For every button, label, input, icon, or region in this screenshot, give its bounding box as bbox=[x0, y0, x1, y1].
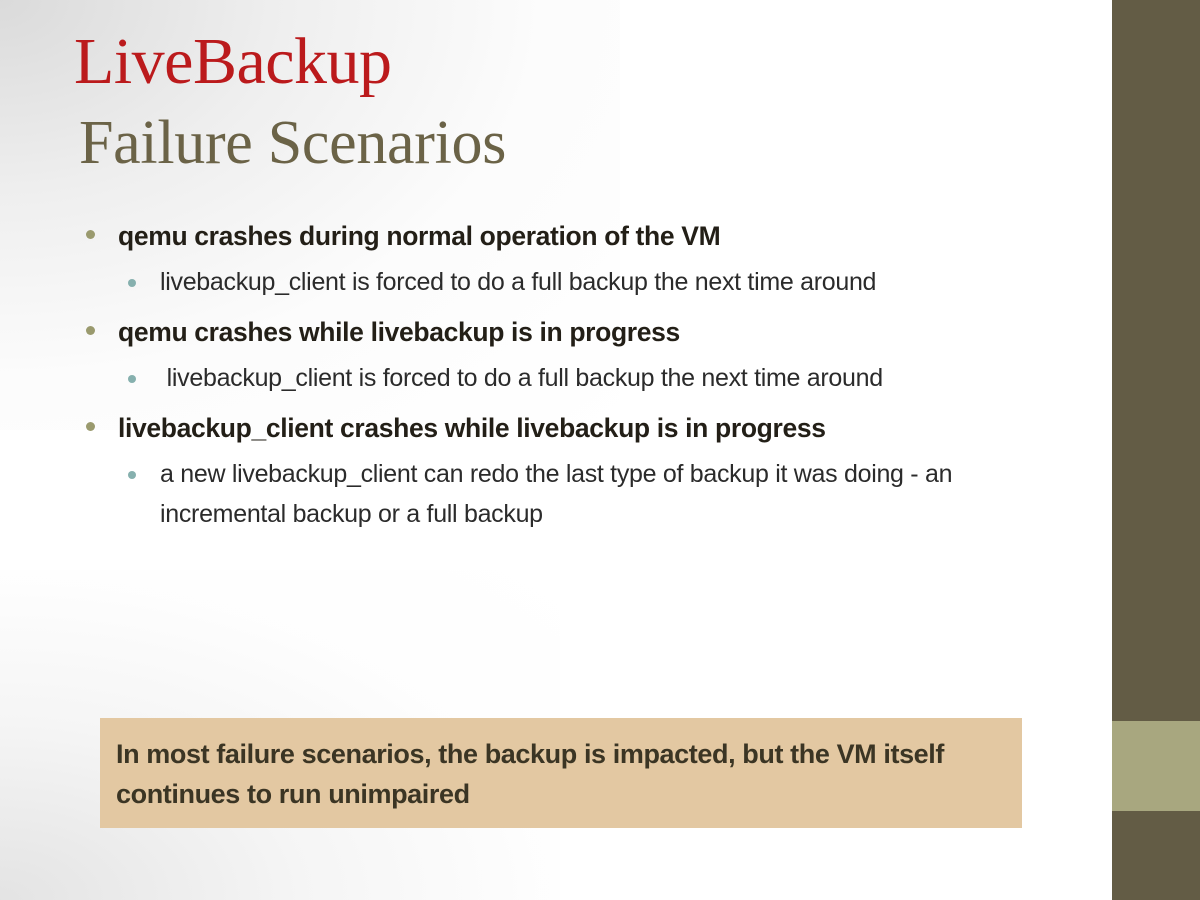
slide-body-content: qemu crashes during normal operation of … bbox=[78, 216, 1038, 544]
slide-title-primary: LiveBackup bbox=[74, 24, 1054, 100]
bullet-level2-label: a new livebackup_client can redo the las… bbox=[160, 460, 959, 528]
bullet-dot-icon bbox=[128, 279, 136, 287]
bullet-level1: livebackup_client crashes while liveback… bbox=[78, 408, 1038, 448]
bullet-level1-label: qemu crashes during normal operation of … bbox=[118, 221, 720, 251]
slide-title-secondary: Failure Scenarios bbox=[79, 106, 1054, 180]
bullet-group: qemu crashes during normal operation of … bbox=[78, 216, 1038, 302]
bullet-level1: qemu crashes while livebackup is in prog… bbox=[78, 312, 1038, 352]
bullet-dot-icon bbox=[86, 230, 95, 239]
sidebar-band-dark-bottom bbox=[1112, 811, 1200, 900]
bullet-level2: livebackup_client is forced to do a full… bbox=[78, 358, 1038, 398]
bullet-level2-label: livebackup_client is forced to do a full… bbox=[160, 364, 883, 392]
sidebar-band-dark-top bbox=[1112, 0, 1200, 721]
bullet-group: qemu crashes while livebackup is in prog… bbox=[78, 312, 1038, 398]
bullet-dot-icon bbox=[128, 375, 136, 383]
bullet-level1-label: livebackup_client crashes while liveback… bbox=[118, 413, 826, 443]
sidebar-band-light bbox=[1112, 721, 1200, 811]
right-decorative-sidebar bbox=[1112, 0, 1200, 900]
slide-canvas: LiveBackup Failure Scenarios qemu crashe… bbox=[0, 0, 1200, 900]
bullet-dot-icon bbox=[86, 422, 95, 431]
bullet-level1: qemu crashes during normal operation of … bbox=[78, 216, 1038, 256]
summary-callout-text: In most failure scenarios, the backup is… bbox=[116, 734, 1004, 814]
bullet-level1-label: qemu crashes while livebackup is in prog… bbox=[118, 317, 680, 347]
bullet-level2: a new livebackup_client can redo the las… bbox=[78, 454, 1038, 534]
slide-title-block: LiveBackup Failure Scenarios bbox=[74, 24, 1054, 180]
bullet-group: livebackup_client crashes while liveback… bbox=[78, 408, 1038, 534]
bullet-level2-label: livebackup_client is forced to do a full… bbox=[160, 268, 876, 296]
summary-callout-box: In most failure scenarios, the backup is… bbox=[100, 718, 1022, 828]
bullet-level2: livebackup_client is forced to do a full… bbox=[78, 262, 1038, 302]
bullet-dot-icon bbox=[86, 326, 95, 335]
bullet-dot-icon bbox=[128, 471, 136, 479]
